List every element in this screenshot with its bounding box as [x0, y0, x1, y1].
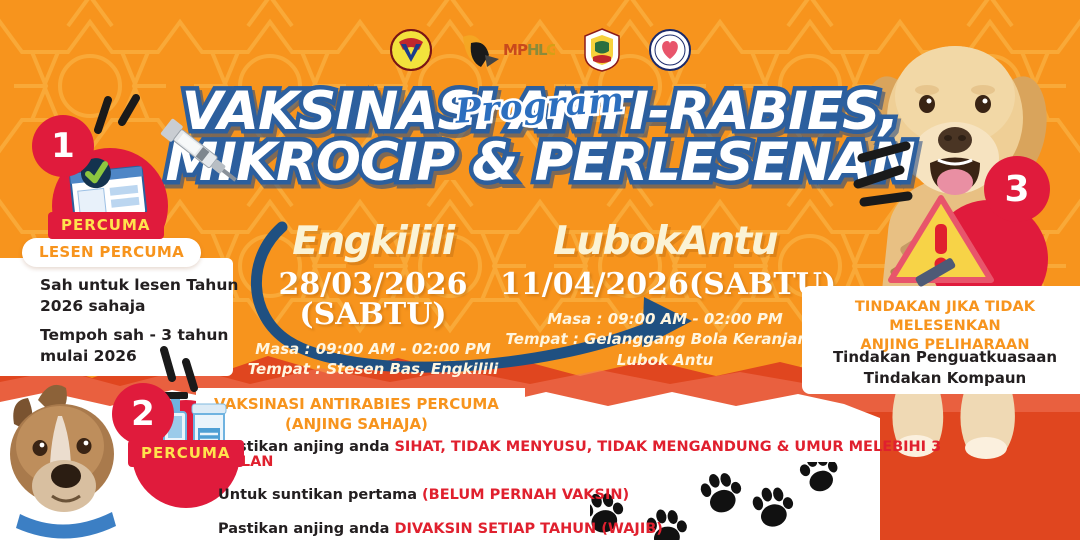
- badge-two: 2: [112, 383, 174, 445]
- svg-text:G: G: [546, 41, 555, 59]
- event-venue: Tempat : Gelanggang Bola Keranjang, Lubo…: [500, 329, 830, 370]
- event-city: Engkilili: [208, 222, 538, 261]
- event-city: LubokAntu: [500, 222, 830, 261]
- enforcement-body-line-2: Tindakan Kompaun: [806, 368, 1080, 389]
- bullet-plain: Pastikan anjing anda: [218, 521, 394, 537]
- sarawak-crest-logo: [581, 27, 623, 73]
- percuma-tag-two: PERCUMA: [128, 440, 244, 467]
- license-line-2: Tempoh sah - 3 tahun mulai 2026: [40, 325, 240, 366]
- badge-one: 1: [32, 115, 94, 177]
- jabatan-veterinar-logo: [389, 28, 433, 72]
- percuma-tag-one: PERCUMA: [48, 212, 164, 239]
- lesen-percuma-pill: LESEN PERCUMA: [22, 238, 201, 267]
- license-info-text: Sah untuk lesen Tahun 2026 sahaja Tempoh…: [40, 275, 240, 366]
- enforcement-body: Tindakan Penguatkuasaan Tindakan Kompaun: [806, 347, 1080, 389]
- event-engkilili: Engkilili 28/03/2026 (SABTU) Masa : 09:0…: [208, 222, 538, 380]
- vaccination-heading: VAKSINASI ANTIRABIES PERCUMA (ANJING SAH…: [196, 388, 525, 443]
- event-lubok-antu: LubokAntu 11/04/2026(SABTU) Masa : 09:00…: [500, 222, 830, 370]
- license-line-1: Sah untuk lesen Tahun 2026 sahaja: [40, 275, 240, 316]
- mphlg-logo: M P H L G: [459, 29, 555, 71]
- event-time: Masa : 09:00 AM - 02:00 PM: [208, 339, 538, 359]
- event-time: Masa : 09:00 AM - 02:00 PM: [500, 309, 830, 329]
- syringe-icon: [152, 108, 248, 194]
- vaccination-heading-line-2: (ANJING SAHAJA): [214, 414, 499, 434]
- svg-text:M: M: [503, 41, 518, 59]
- scribble-lines-topleft: [88, 92, 158, 152]
- vaccination-bullets: Pastikan anjing anda SIHAT, TIDAK MENYUS…: [218, 440, 958, 540]
- vaccination-heading-line-1: VAKSINASI ANTIRABIES PERCUMA: [214, 394, 499, 414]
- heart-care-logo: [649, 29, 691, 71]
- bullet-item: Pastikan anjing anda DIVAKSIN SETIAP TAH…: [218, 522, 958, 537]
- event-venue: Tempat : Stesen Bas, Engkilili: [208, 359, 538, 379]
- event-date: 28/03/2026 (SABTU): [208, 270, 538, 330]
- enforcement-heading-line-1: TINDAKAN JIKA TIDAK MELESENKAN: [855, 299, 1035, 334]
- bullet-highlight: (BELUM PERNAH VAKSIN): [422, 487, 629, 503]
- warning-gavel-icon: [885, 188, 997, 296]
- event-date: 11/04/2026(SABTU): [500, 270, 830, 300]
- bullet-item: Untuk suntikan pertama (BELUM PERNAH VAK…: [218, 488, 958, 503]
- poster-root: M P H L G Program VAKSINASI ANTI-RABIES,…: [0, 0, 1080, 540]
- bullet-highlight: DIVAKSIN SETIAP TAHUN (WAJIB): [394, 521, 662, 537]
- bullet-plain: Untuk suntikan pertama: [218, 487, 422, 503]
- bullet-item: Pastikan anjing anda SIHAT, TIDAK MENYUS…: [218, 440, 958, 469]
- enforcement-body-line-1: Tindakan Penguatkuasaan: [806, 347, 1080, 368]
